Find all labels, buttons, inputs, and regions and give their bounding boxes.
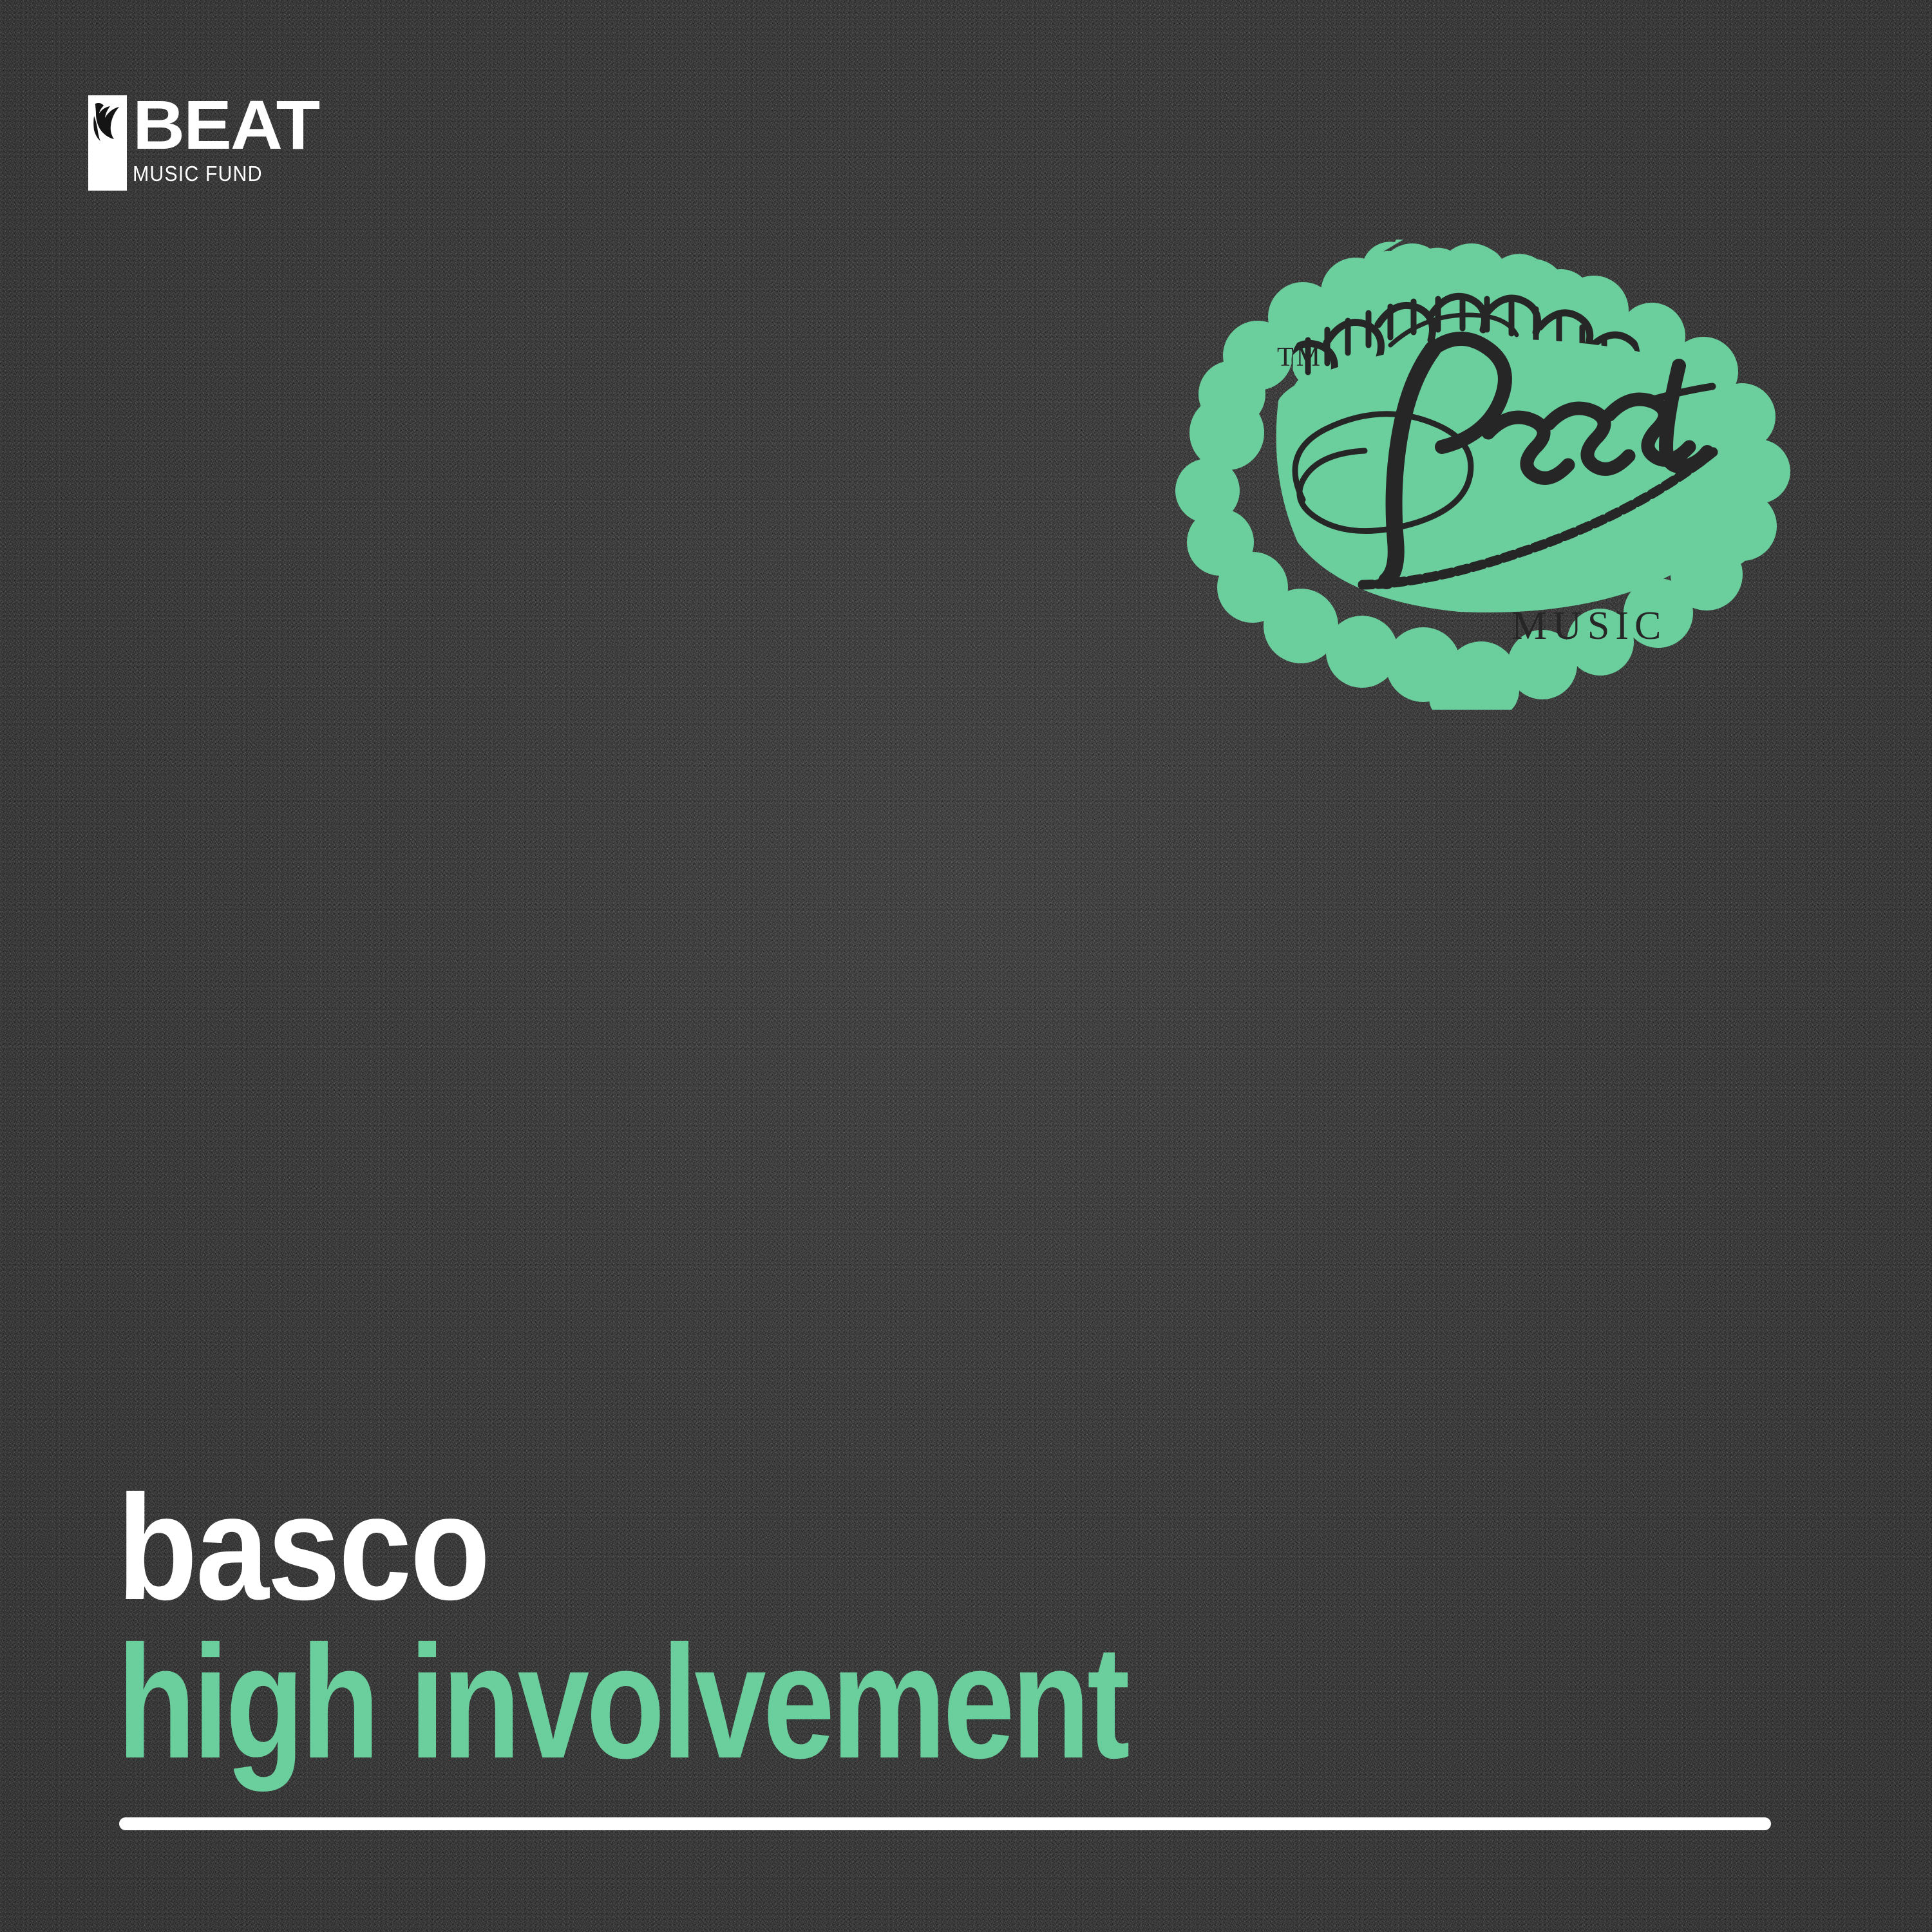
artist-name: basco bbox=[117, 1473, 489, 1623]
beat-subtitle: MUSIC FUND bbox=[133, 163, 298, 184]
beat-wordmark: BEAT bbox=[133, 95, 319, 155]
armada-sail-icon bbox=[88, 95, 127, 191]
bottom-rule bbox=[119, 1817, 1771, 1830]
psst-badge-frame bbox=[1175, 240, 1790, 710]
psst-music-text: MUSIC bbox=[1511, 604, 1667, 648]
beat-music-fund-logo: BEAT MUSIC FUND bbox=[88, 95, 312, 191]
album-cover: BEAT MUSIC FUND bbox=[0, 0, 1932, 1932]
beat-logo-text: BEAT MUSIC FUND bbox=[133, 95, 312, 191]
psst-trademark-text: TM bbox=[1277, 343, 1323, 372]
release-title: high involvement bbox=[117, 1622, 1127, 1783]
psst-music-logo: TM bbox=[1130, 240, 1803, 710]
